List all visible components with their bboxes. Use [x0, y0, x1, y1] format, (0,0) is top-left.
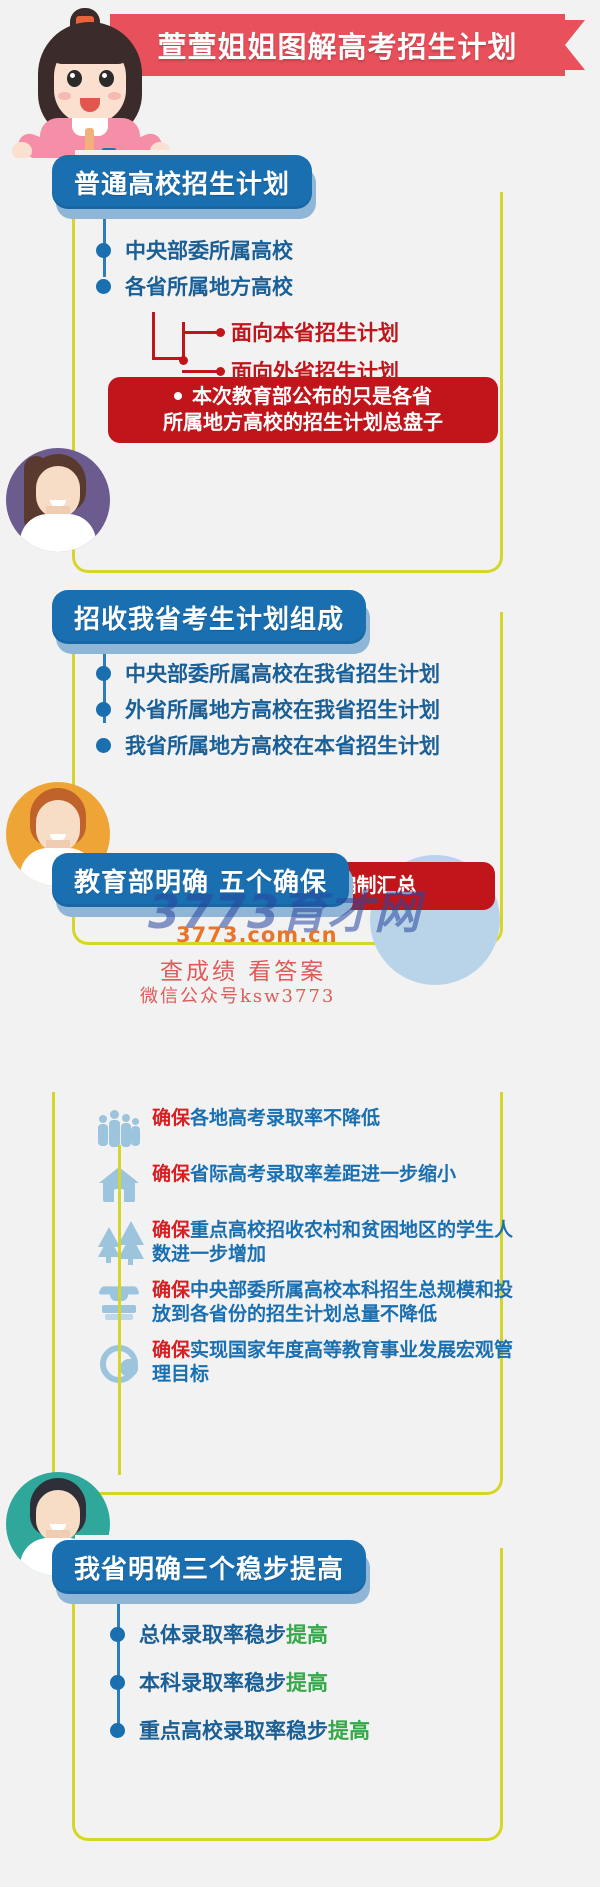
list-item-label: 确保省际高考录取率差距进一步缩小 [152, 1161, 456, 1187]
list-item-label: 外省所属地方高校在我省招生计划 [125, 694, 440, 724]
list-item-label: 总体录取率稳步提高 [139, 1619, 328, 1649]
list-item[interactable]: 确保重点高校招收农村和贫困地区的学生人数进一步增加 [96, 1217, 516, 1267]
keyword: 确保 [152, 1339, 190, 1361]
guarantee-spine [118, 1145, 121, 1475]
list-item-label: 确保各地高考录取率不降低 [152, 1105, 380, 1131]
list-item-label: 确保中央部委所属高校本科招生总规模和投放到各省份的招生计划总量不降低 [152, 1277, 516, 1327]
row-highlight: 提高 [286, 1623, 328, 1647]
eye-highlight-right-icon [102, 73, 107, 78]
row-highlight: 提高 [328, 1719, 370, 1743]
hair-bangs-icon [50, 34, 130, 64]
section-2-header[interactable]: 招收我省考生计划组成 [52, 590, 366, 644]
list-item[interactable]: 外省所属地方高校在我省招生计划 [96, 691, 440, 727]
list-item-label: 中央部委所属高校在我省招生计划 [125, 658, 440, 688]
bullet-dot-icon [96, 243, 111, 258]
list-item-label: 重点高校录取率稳步提高 [139, 1715, 370, 1745]
shirt-icon [20, 514, 96, 552]
section-3-header[interactable]: 教育部明确 五个确保 [52, 853, 349, 907]
list-item[interactable]: 确保各地高考录取率不降低 [96, 1105, 516, 1151]
section-2-title: 招收我省考生计划组成 [74, 599, 344, 636]
banner-ribbon-icon [565, 20, 585, 70]
avatar-secondary-1 [6, 448, 110, 552]
list-item[interactable]: 确保实现国家年度高等教育事业发展宏观管理目标 [96, 1337, 516, 1387]
list-item-label: 确保实现国家年度高等教育事业发展宏观管理目标 [152, 1337, 516, 1387]
row-prefix: 本科录取率稳步 [139, 1671, 286, 1695]
rest: 中央部委所属高校本科招生总规模和投放到各省份的招生计划总量不降低 [152, 1279, 513, 1325]
section-1-header[interactable]: 普通高校招生计划 [52, 155, 312, 209]
hand-left-icon [12, 142, 32, 158]
list-item-label: 我省所属地方高校在本省招生计划 [125, 730, 440, 760]
section-1-subbranch: 面向本省招生计划 面向外省招生计划 [152, 312, 452, 384]
keyword: 确保 [152, 1219, 190, 1241]
bullet-dot-icon [96, 279, 111, 294]
list-item[interactable]: 面向本省招生计划 [182, 317, 399, 347]
row-prefix: 重点高校录取率稳步 [139, 1719, 328, 1743]
rest: 各地高考录取率不降低 [190, 1107, 380, 1129]
list-item[interactable]: 确保省际高考录取率差距进一步缩小 [96, 1161, 516, 1207]
callout-line-1: 本次教育部公布的只是各省 [192, 384, 432, 408]
eye-left-icon [67, 70, 82, 87]
bullet-dot-icon [110, 1723, 125, 1738]
list-item[interactable]: 各省所属地方高校 [96, 268, 293, 304]
section-1-title: 普通高校招生计划 [74, 164, 290, 201]
bullet-dot-icon [96, 702, 111, 717]
list-item-label: 面向本省招生计划 [231, 317, 399, 347]
title-banner: 萱萱姐姐图解高考招生计划 [110, 14, 585, 76]
callout-line-2: 所属地方高校的招生计划总盘子 [163, 410, 443, 434]
subbranch-junction-dot-icon [179, 356, 188, 365]
bullet-dot-icon [96, 666, 111, 681]
keyword: 确保 [152, 1163, 190, 1185]
header-plate: 普通高校招生计划 [52, 155, 312, 209]
section-4-title: 我省明确三个稳步提高 [74, 1549, 344, 1586]
list-item[interactable]: 中央部委所属高校在我省招生计划 [96, 655, 440, 691]
subbranch-vertical-line [152, 312, 155, 360]
bullet-dot-icon [96, 738, 111, 753]
section-4-bullet-list: 总体录取率稳步提高 本科录取率稳步提高 重点高校录取率稳步提高 [110, 1610, 370, 1754]
header-plate: 我省明确三个稳步提高 [52, 1540, 366, 1594]
cheek-right-icon [108, 92, 121, 100]
cheek-left-icon [58, 92, 71, 100]
list-item-label: 确保重点高校招收农村和贫困地区的学生人数进一步增加 [152, 1217, 516, 1267]
keyword: 确保 [152, 1107, 190, 1129]
list-item[interactable]: 本科录取率稳步提高 [110, 1658, 370, 1706]
list-item[interactable]: 我省所属地方高校在本省招生计划 [96, 727, 440, 763]
bullet-dot-icon [110, 1675, 125, 1690]
section-4-header[interactable]: 我省明确三个稳步提高 [52, 1540, 366, 1594]
header-plate: 招收我省考生计划组成 [52, 590, 366, 644]
callout-text: 本次教育部公布的只是各省 所属地方高校的招生计划总盘子 [149, 384, 457, 435]
watermark-wechat: 微信公众号ksw3773 [140, 982, 335, 1008]
gear-knob-shape [120, 1359, 138, 1377]
avatar-host [10, 8, 170, 158]
subbranch-connector [182, 370, 218, 373]
bullet-dot-icon [110, 1627, 125, 1642]
header-plate: 教育部明确 五个确保 [52, 853, 349, 907]
bullet-dot-icon [216, 328, 225, 337]
section-3-guarantee-list: 确保各地高考录取率不降低 确保省际高考录取率差距进一步缩小 确保重点高校招收农村… [96, 1105, 516, 1397]
section-1-callout: 本次教育部公布的只是各省 所属地方高校的招生计划总盘子 [108, 377, 498, 443]
keyword: 确保 [152, 1279, 190, 1301]
row-prefix: 总体录取率稳步 [139, 1623, 286, 1647]
list-item[interactable]: 中央部委所属高校 [96, 232, 293, 268]
rest: 重点高校招收农村和贫困地区的学生人数进一步增加 [152, 1219, 513, 1265]
list-item-label: 本科录取率稳步提高 [139, 1667, 328, 1697]
watermark-slogan: 查成绩 看答案 [160, 952, 326, 986]
callout-bullet-icon [174, 392, 182, 400]
list-item-label: 各省所属地方高校 [125, 271, 293, 301]
list-item[interactable]: 总体录取率稳步提高 [110, 1610, 370, 1658]
section-1-bullet-list: 中央部委所属高校 各省所属地方高校 [96, 232, 293, 304]
section-3-title: 教育部明确 五个确保 [74, 862, 327, 899]
subbranch-connector [182, 331, 218, 334]
eye-right-icon [99, 70, 114, 87]
infographic-page: 萱萱姐姐图解高考招生计划 普通高校招生计划 [0, 0, 600, 1887]
list-item-label: 中央部委所属高校 [125, 235, 293, 265]
list-item[interactable]: 确保中央部委所属高校本科招生总规模和投放到各省份的招生计划总量不降低 [96, 1277, 516, 1327]
eye-highlight-left-icon [70, 73, 75, 78]
list-item[interactable]: 重点高校录取率稳步提高 [110, 1706, 370, 1754]
page-title: 萱萱姐姐图解高考招生计划 [110, 14, 565, 76]
bullet-dot-icon [216, 367, 225, 376]
row-highlight: 提高 [286, 1671, 328, 1695]
rest: 实现国家年度高等教育事业发展宏观管理目标 [152, 1339, 513, 1385]
rest: 省际高考录取率差距进一步缩小 [190, 1163, 456, 1185]
